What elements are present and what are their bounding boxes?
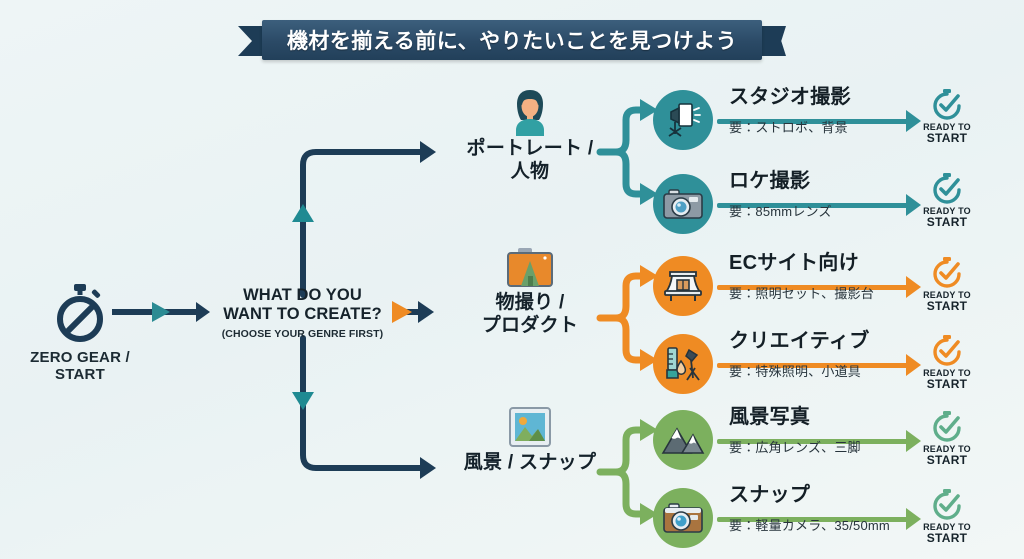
outcome-location-bubble	[653, 174, 713, 234]
outcome-studio-bubble	[653, 90, 713, 150]
stopwatch-slash-icon	[48, 281, 112, 345]
ready-badge-creative: READY TO START	[908, 334, 986, 391]
ready-badge-snap-line2: START	[908, 532, 986, 545]
infographic-canvas: 機材を揃える前に、やりたいことを見つけよう ZERO GEAR /	[0, 0, 1024, 559]
stopwatch-check-icon	[930, 172, 964, 206]
outcome-landscape-photo-bubble	[653, 410, 713, 470]
question-line1: WHAT DO YOU	[205, 286, 400, 305]
camera-gray-icon	[663, 188, 703, 220]
outcome-studio[interactable]: スタジオ撮影 要：ストロボ、背景	[653, 84, 913, 158]
camera-orange-icon	[504, 246, 556, 290]
ready-badge-location: READY TO START	[908, 172, 986, 229]
outcome-ecsite-requirement: 要：照明セット、撮影台	[729, 283, 874, 302]
outcome-snap-bubble	[653, 488, 713, 548]
outcome-ecsite-text: ECサイト向け 要：照明セット、撮影台	[729, 252, 874, 302]
person-avatar-icon	[506, 86, 554, 136]
outcome-location-text: ロケ撮影 要：85mmレンズ	[729, 170, 832, 220]
outcome-studio-requirement: 要：ストロボ、背景	[729, 117, 851, 136]
ready-badge-snap: READY TO START	[908, 488, 986, 545]
studio-lamp-icon	[663, 345, 703, 383]
camera-brown-icon	[663, 502, 703, 534]
stopwatch-check-icon	[930, 256, 964, 290]
ready-badge-creative-line2: START	[908, 378, 986, 391]
start-label: ZERO GEAR / START	[22, 349, 138, 384]
outcome-location[interactable]: ロケ撮影 要：85mmレンズ	[653, 168, 913, 242]
outcome-studio-title: スタジオ撮影	[729, 86, 851, 108]
outcome-snap-text: スナップ 要：軽量カメラ、35/50mm	[729, 484, 890, 534]
question-subtitle: (CHOOSE YOUR GENRE FIRST)	[205, 328, 400, 340]
stopwatch-check-icon	[930, 88, 964, 122]
outcome-studio-text: スタジオ撮影 要：ストロボ、背景	[729, 86, 851, 136]
landscape-photo-icon	[507, 406, 553, 450]
start-label-line1: ZERO GEAR /	[22, 349, 138, 366]
ready-badge-ecsite: READY TO START	[908, 256, 986, 313]
outcome-creative-title: クリエイティブ	[729, 330, 870, 352]
outcome-creative-text: クリエイティブ 要：特殊照明、小道具	[729, 330, 870, 380]
outcome-snap-requirement: 要：軽量カメラ、35/50mm	[729, 515, 890, 534]
product-table-icon	[663, 268, 703, 304]
outcome-location-title: ロケ撮影	[729, 170, 832, 192]
splitter-landscape	[598, 416, 660, 528]
stopwatch-check-icon	[930, 410, 964, 444]
outcome-snap[interactable]: スナップ 要：軽量カメラ、35/50mm	[653, 482, 913, 556]
ready-badge-studio-line2: START	[908, 132, 986, 145]
ready-badge-landscape-photo: READY TO START	[908, 410, 986, 467]
outcome-ecsite[interactable]: ECサイト向け 要：照明セット、撮影台	[653, 250, 913, 324]
ready-badge-ecsite-line2: START	[908, 300, 986, 313]
outcome-landscape-photo[interactable]: 風景写真 要：広角レンズ、三脚	[653, 404, 913, 478]
outcome-creative-requirement: 要：特殊照明、小道具	[729, 361, 870, 380]
ready-badge-studio: READY TO START	[908, 88, 986, 145]
softbox-light-icon	[664, 101, 702, 139]
mountains-icon	[662, 425, 704, 455]
outcome-creative-bubble	[653, 334, 713, 394]
outcome-snap-title: スナップ	[729, 484, 890, 506]
outcome-creative[interactable]: クリエイティブ 要：特殊照明、小道具	[653, 328, 913, 402]
splitter-product	[598, 262, 660, 374]
question-node: WHAT DO YOU WANT TO CREATE? (CHOOSE YOUR…	[205, 286, 400, 340]
start-node: ZERO GEAR / START	[22, 281, 138, 384]
ready-badge-landscape-photo-line2: START	[908, 454, 986, 467]
ready-badge-location-line2: START	[908, 216, 986, 229]
outcome-landscape-photo-text: 風景写真 要：広角レンズ、三脚	[729, 406, 861, 456]
stopwatch-check-icon	[930, 488, 964, 522]
splitter-portrait	[598, 96, 660, 208]
stopwatch-check-icon	[930, 334, 964, 368]
outcome-landscape-photo-requirement: 要：広角レンズ、三脚	[729, 437, 861, 456]
question-line2: WANT TO CREATE?	[205, 305, 400, 324]
start-label-line2: START	[22, 366, 138, 383]
outcome-location-requirement: 要：85mmレンズ	[729, 201, 832, 220]
outcome-ecsite-bubble	[653, 256, 713, 316]
outcome-landscape-photo-title: 風景写真	[729, 406, 861, 428]
outcome-ecsite-title: ECサイト向け	[729, 252, 874, 274]
